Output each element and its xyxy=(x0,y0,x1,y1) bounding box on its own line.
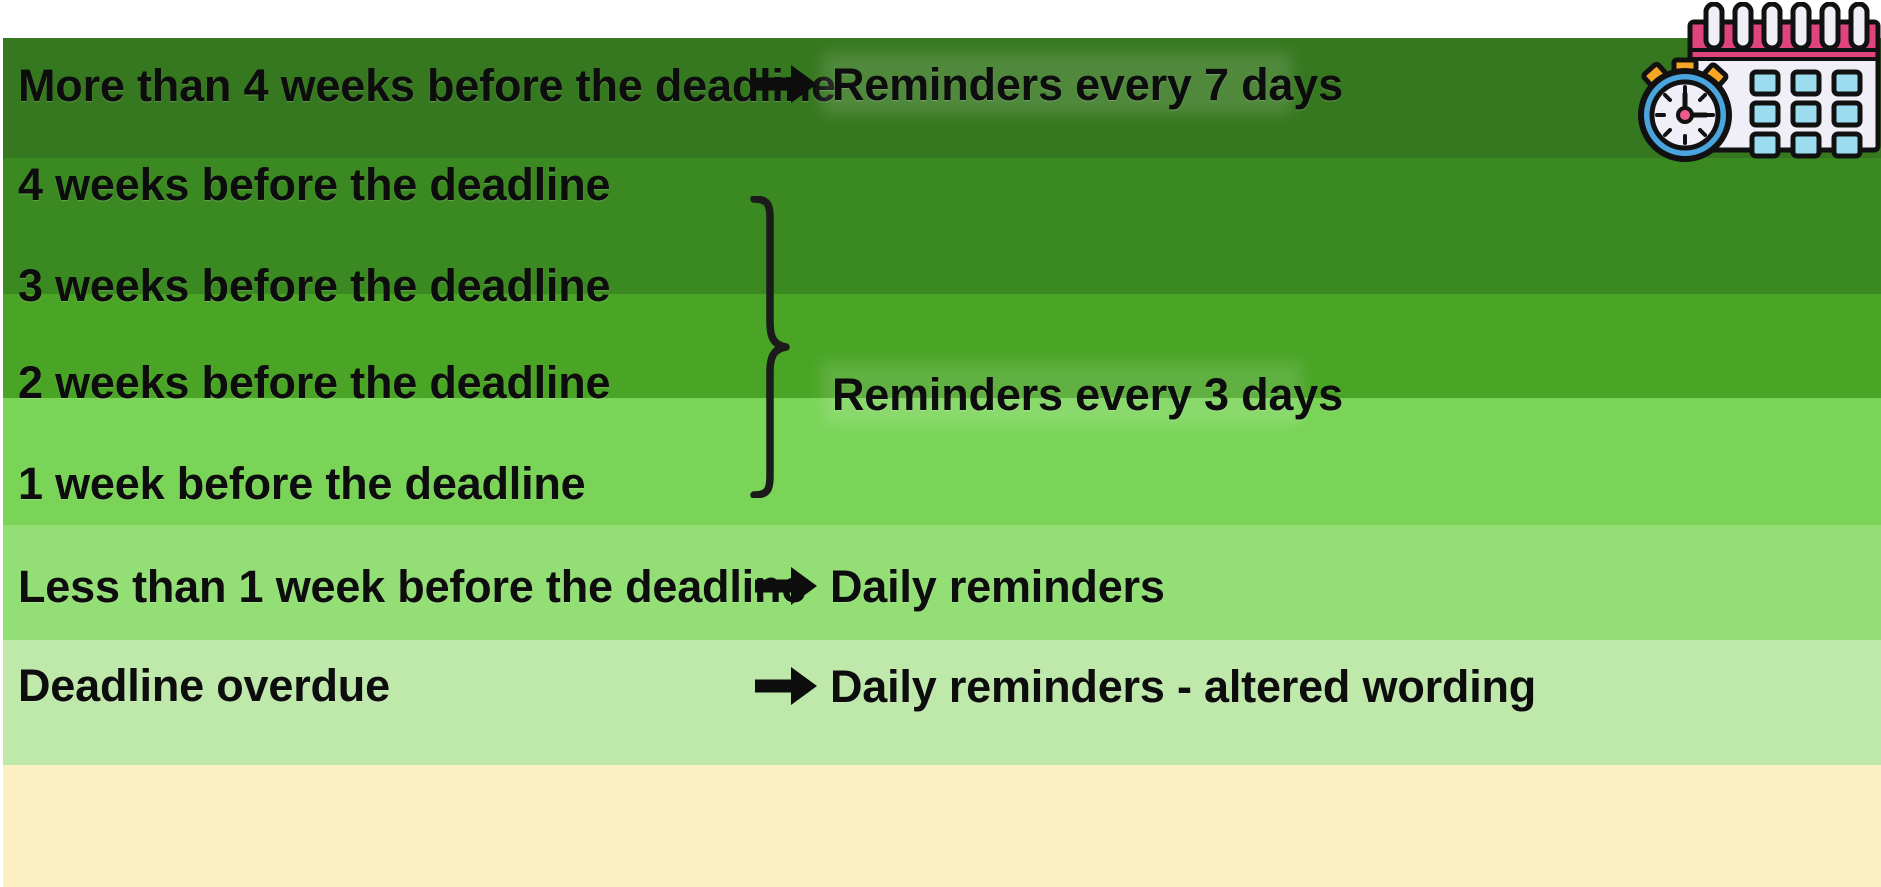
condition-label-6: Less than 1 week before the deadline xyxy=(18,563,806,611)
condition-label-2: 4 weeks before the deadline xyxy=(18,161,610,209)
condition-label-1: More than 4 weeks before the deadline xyxy=(18,62,836,110)
row-band-7 xyxy=(3,765,1881,887)
condition-label-7: Deadline overdue xyxy=(18,662,390,710)
arrow-right-icon-row6 xyxy=(755,562,817,610)
arrow-right-icon-row7 xyxy=(755,662,817,710)
calendar-stopwatch-icon xyxy=(1638,2,1881,162)
result-label-1: Reminders every 7 days xyxy=(832,60,1343,110)
condition-label-4: 2 weeks before the deadline xyxy=(18,359,610,407)
result-label-6: Daily reminders xyxy=(830,562,1165,612)
row-band-7-fill xyxy=(3,765,1881,887)
result-label-7: Daily reminders - altered wording xyxy=(830,662,1536,712)
result-label-grouped: Reminders every 3 days xyxy=(832,370,1343,420)
diagram-canvas: More than 4 weeks before the deadline 4 … xyxy=(0,0,1881,887)
curly-brace-icon xyxy=(748,196,798,498)
condition-label-5: 1 week before the deadline xyxy=(18,460,586,508)
arrow-right-icon-row1 xyxy=(755,60,817,108)
condition-label-3: 3 weeks before the deadline xyxy=(18,262,610,310)
